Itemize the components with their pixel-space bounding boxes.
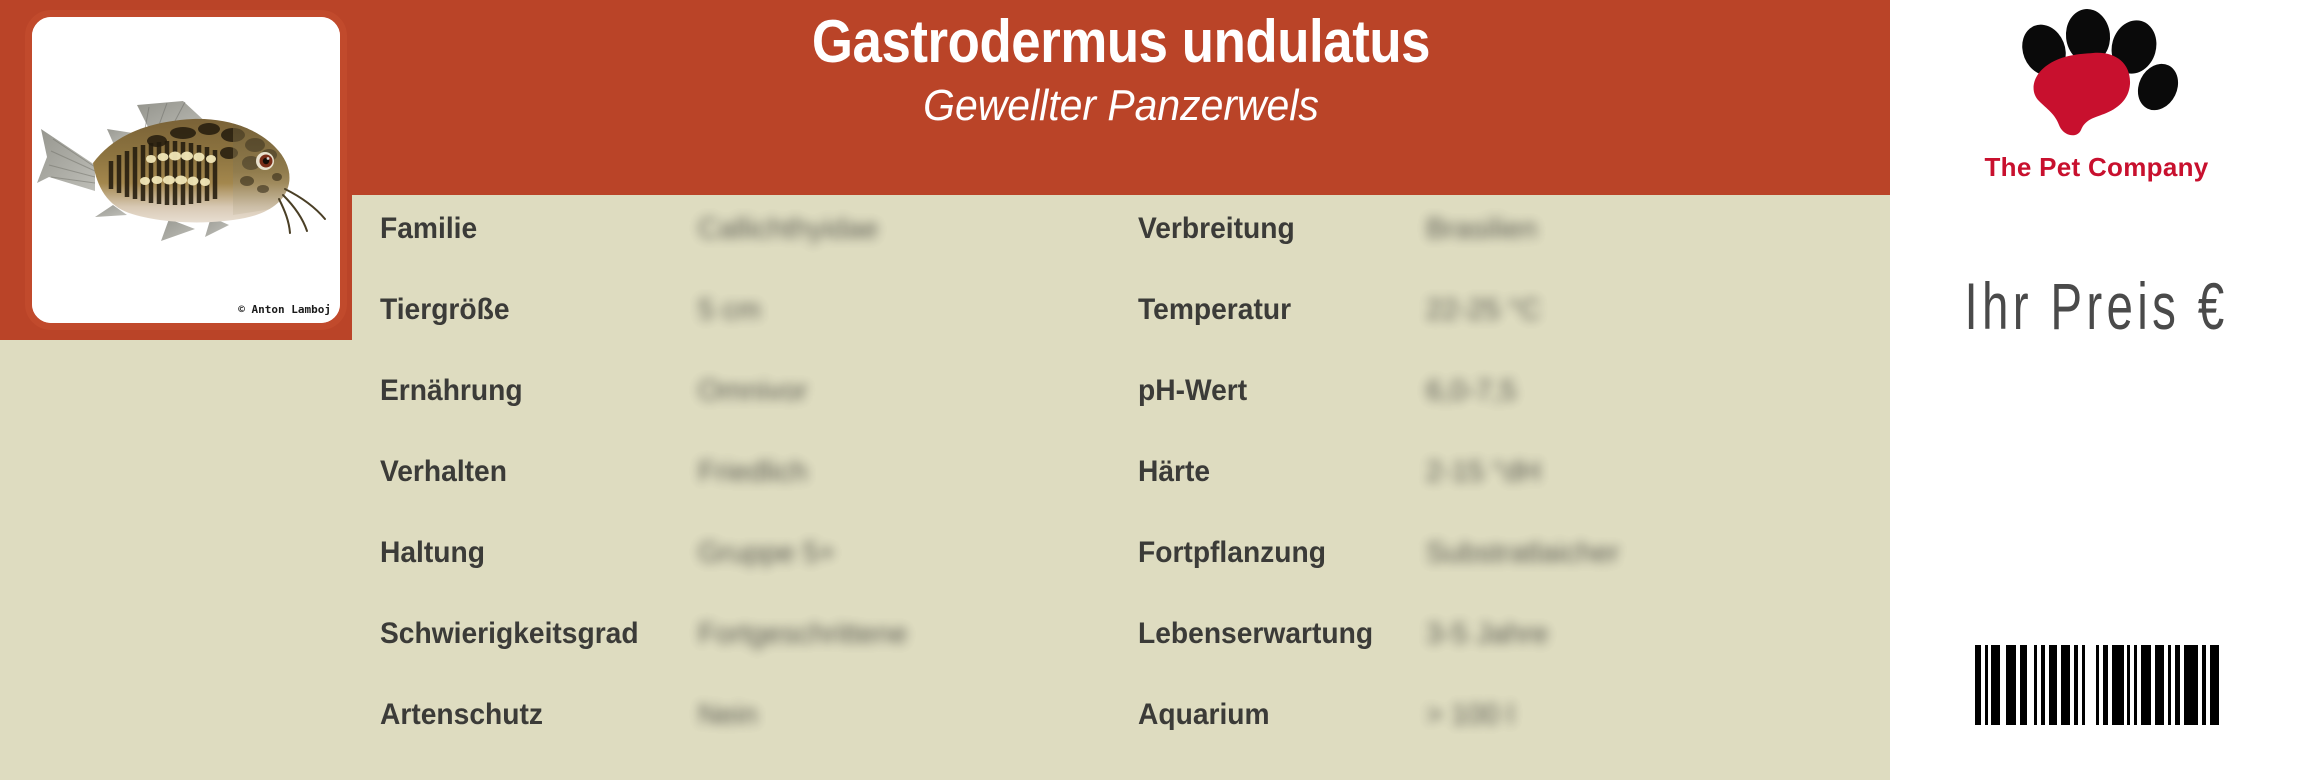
info-value-familie: Callichthyidae bbox=[698, 212, 1138, 246]
info-value-temperatur: 22-25 °C bbox=[1426, 293, 1866, 327]
info-label-temperatur: Temperatur bbox=[1138, 293, 1409, 327]
price-panel: The Pet Company Ihr Preis € bbox=[1890, 0, 2303, 780]
product-label-card: Gastrodermus undulatus Gewellter Panzerw… bbox=[0, 0, 2303, 780]
fish-photo-icon bbox=[33, 85, 339, 255]
info-value-verbreitung: Brasilien bbox=[1426, 212, 1866, 246]
info-label-fortpflanzung: Fortpflanzung bbox=[1138, 536, 1409, 570]
info-label-verhalten: Verhalten bbox=[380, 455, 679, 489]
barcode-bar bbox=[2049, 645, 2057, 725]
info-label-lebenserwartung: Lebenserwartung bbox=[1138, 617, 1409, 651]
info-value-artenschutz: Nein bbox=[698, 698, 1138, 732]
subtitle: Gewellter Panzerwels bbox=[406, 80, 1836, 132]
info-label-aquarium: Aquarium bbox=[1138, 698, 1409, 732]
price-label: Ihr Preis € bbox=[1948, 268, 2245, 344]
paw-print-icon bbox=[1997, 6, 2197, 136]
info-label-tiergroesse: Tiergröße bbox=[380, 293, 679, 327]
barcode-bar bbox=[2006, 645, 2016, 725]
barcode-bar bbox=[1991, 645, 2000, 725]
barcode-bar bbox=[2061, 645, 2070, 725]
barcode-bar bbox=[2020, 645, 2027, 725]
barcode-bar bbox=[2210, 645, 2219, 725]
barcode-bar bbox=[2155, 645, 2164, 725]
barcode bbox=[1890, 645, 2303, 730]
barcode-bar bbox=[2112, 645, 2124, 725]
barcode-bar bbox=[2141, 645, 2151, 725]
brand-logo: The Pet Company bbox=[1890, 4, 2303, 194]
barcode-bar bbox=[2184, 645, 2198, 725]
barcode-space bbox=[2027, 645, 2034, 725]
brand-name: The Pet Company bbox=[1890, 152, 2303, 183]
info-value-tiergroesse: 5 cm bbox=[698, 293, 1138, 327]
info-label-haltung: Haltung bbox=[380, 536, 679, 570]
species-info-grid: Familie Callichthyidae Verbreitung Brasi… bbox=[380, 212, 1870, 779]
info-value-lebenserwartung: 3-5 Jahre bbox=[1426, 617, 1866, 651]
info-value-ph-wert: 6,0-7,5 bbox=[1426, 374, 1866, 408]
header-banner: Gastrodermus undulatus Gewellter Panzerw… bbox=[352, 0, 1890, 195]
info-value-schwierigkeitsgrad: Fortgeschrittene bbox=[698, 617, 1138, 651]
page-title: Gastrodermus undulatus bbox=[444, 8, 1797, 76]
info-label-haerte: Härte bbox=[1138, 455, 1409, 489]
info-label-artenschutz: Artenschutz bbox=[380, 698, 679, 732]
info-value-haerte: 2-15 °dH bbox=[1426, 455, 1866, 489]
info-value-fortpflanzung: Substratlaicher bbox=[1426, 536, 1866, 570]
species-photo-card: © Anton Lamboj bbox=[25, 10, 347, 330]
info-label-ph-wert: pH-Wert bbox=[1138, 374, 1409, 408]
title-block: Gastrodermus undulatus Gewellter Panzerw… bbox=[352, 0, 1890, 132]
photo-credit: © Anton Lamboj bbox=[238, 303, 331, 316]
info-label-familie: Familie bbox=[380, 212, 679, 246]
info-label-schwierigkeitsgrad: Schwierigkeitsgrad bbox=[380, 617, 679, 651]
info-label-verbreitung: Verbreitung bbox=[1138, 212, 1409, 246]
info-value-verhalten: Friedlich bbox=[698, 455, 1138, 489]
info-value-haltung: Gruppe 5+ bbox=[698, 536, 1138, 570]
info-value-aquarium: > 100 l bbox=[1426, 698, 1866, 732]
photo-inner bbox=[32, 17, 340, 323]
info-label-ernaehrung: Ernährung bbox=[380, 374, 679, 408]
barcode-space bbox=[2085, 645, 2096, 725]
info-value-ernaehrung: Omnivor bbox=[698, 374, 1138, 408]
